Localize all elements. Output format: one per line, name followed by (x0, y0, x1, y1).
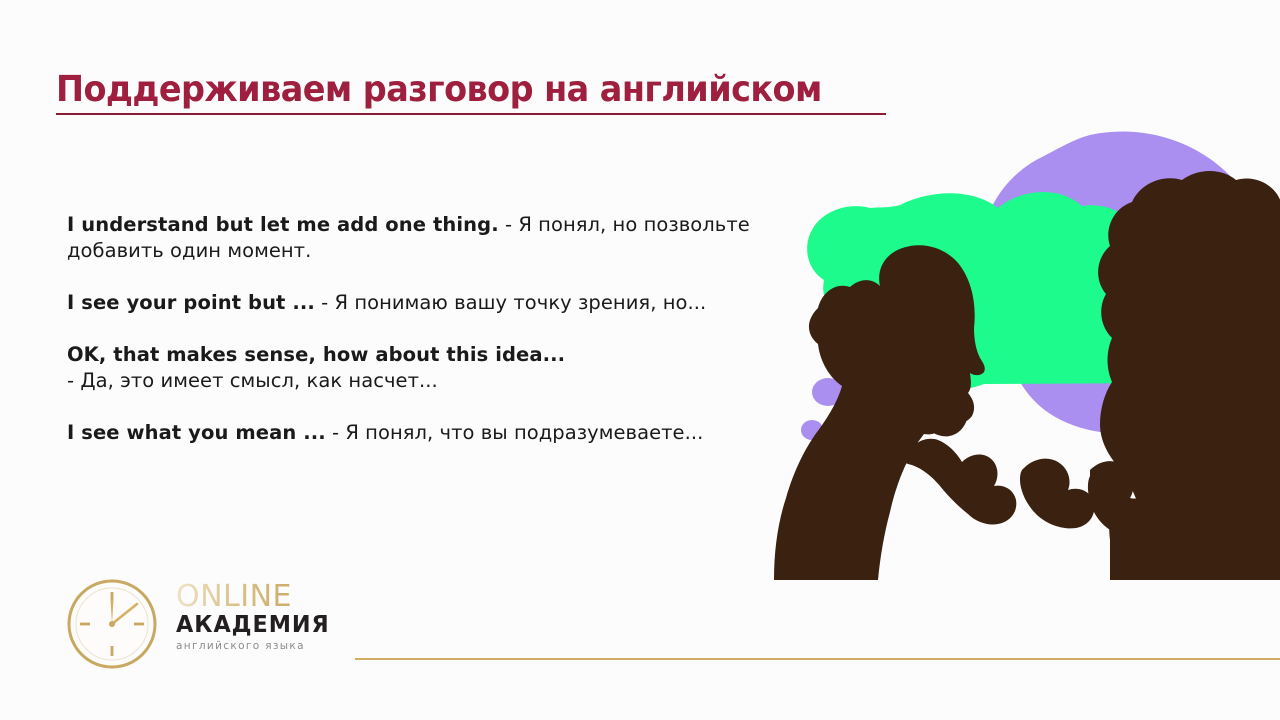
list-item: I see what you mean ... - Я понял, что в… (67, 420, 757, 446)
title-block: Поддерживаем разговор на английском (56, 68, 896, 112)
phrase-list: I understand but let me add one thing. -… (67, 212, 757, 446)
page-title: Поддерживаем разговор на английском (56, 68, 837, 112)
list-item: I understand but let me add one thing. -… (67, 212, 757, 264)
phrase-russian: - Да, это имеет смысл, как насчет... (67, 369, 438, 392)
logo-online-text: ONLINE (176, 582, 356, 612)
logo-academy-text: АКАДЕМИЯ (176, 612, 351, 639)
phrase-english: I understand but let me add one thing. (67, 213, 499, 236)
list-item: I see your point but ... - Я понимаю ваш… (67, 290, 757, 316)
logo-wordmark: ONLINE АКАДЕМИЯ английского языка (176, 582, 356, 653)
slide-canvas: Поддерживаем разговор на английском I un… (0, 0, 1280, 720)
clock-icon (64, 576, 160, 672)
conversation-illustration (760, 110, 1280, 620)
logo: ONLINE АКАДЕМИЯ английского языка (64, 572, 354, 672)
phrase-russian: - Я понимаю вашу точку зрения, но... (315, 291, 706, 314)
list-item: OK, that makes sense, how about this ide… (67, 342, 757, 394)
logo-subtitle-text: английского языка (176, 639, 356, 653)
footer-rule (355, 658, 1280, 660)
phrase-english: I see your point but ... (67, 291, 315, 314)
phrase-english: I see what you mean ... (67, 421, 326, 444)
phrase-english: OK, that makes sense, how about this ide… (67, 343, 565, 366)
phrase-russian: - Я понял, что вы подразумеваете... (326, 421, 704, 444)
